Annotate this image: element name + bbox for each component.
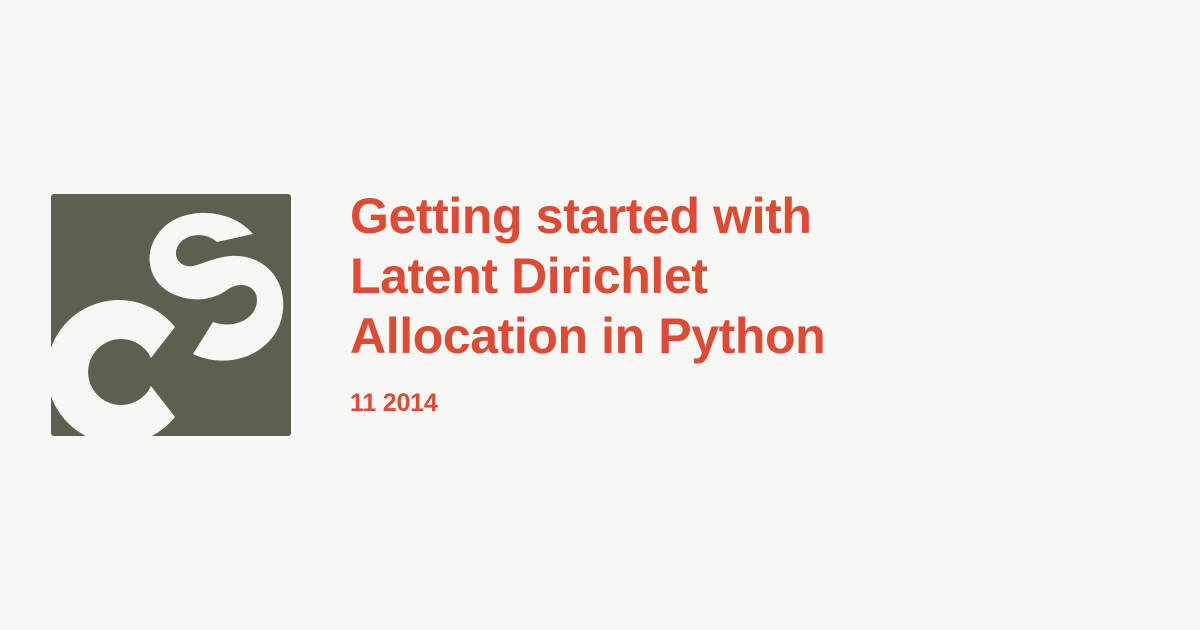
- page-title: Getting started with Latent Dirichlet Al…: [350, 186, 1150, 366]
- cs-monogram-icon: [17, 194, 325, 436]
- social-share-card: Getting started with Latent Dirichlet Al…: [0, 0, 1200, 630]
- publish-date: 11 2014: [350, 366, 1150, 418]
- card-text-block: Getting started with Latent Dirichlet Al…: [350, 186, 1150, 418]
- site-logo[interactable]: [51, 194, 291, 436]
